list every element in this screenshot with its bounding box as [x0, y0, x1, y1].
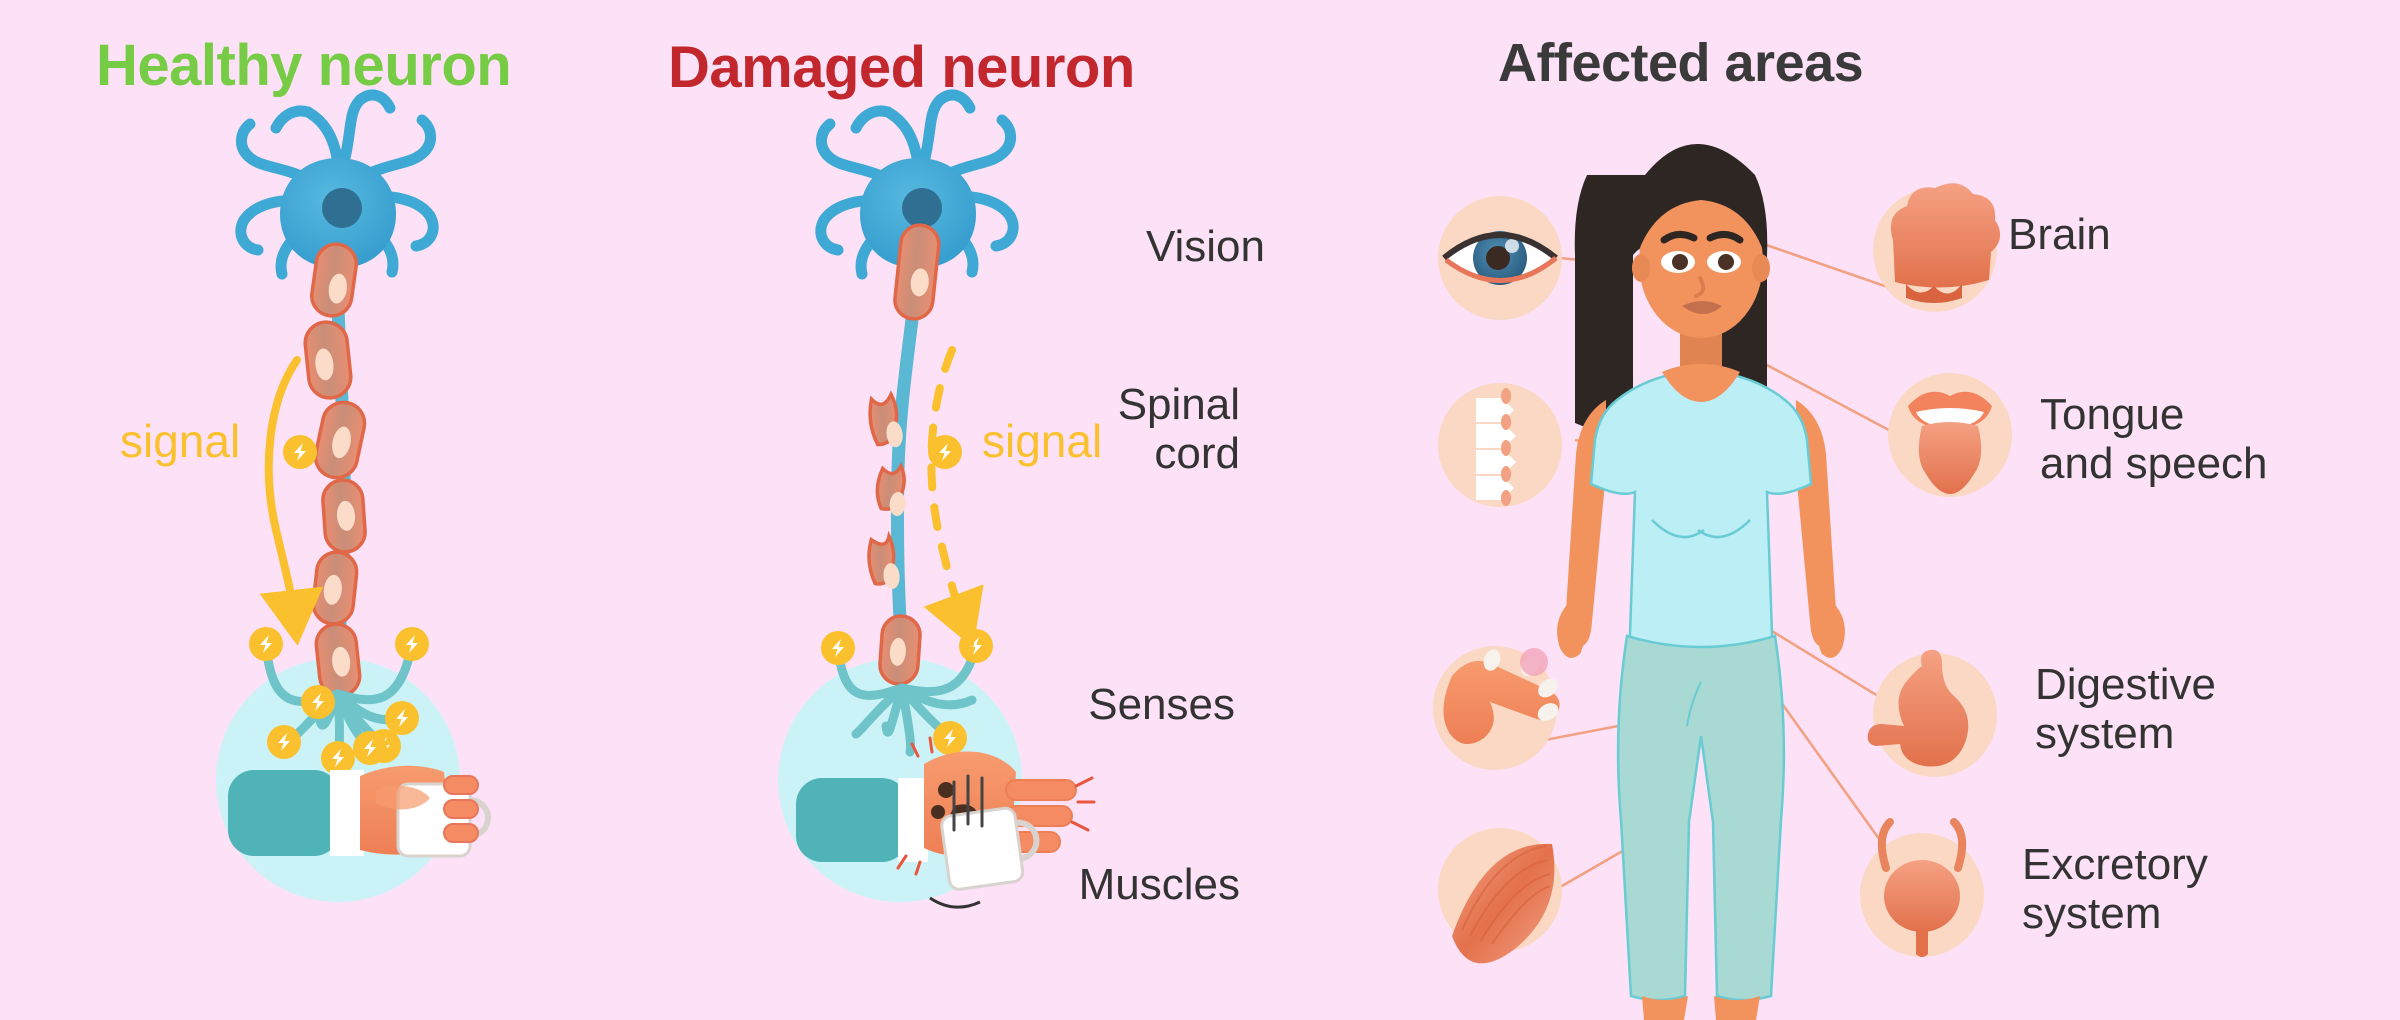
- signal-label-healthy: signal: [120, 414, 240, 468]
- healthy-terminal-bolts: [249, 627, 429, 775]
- damaged-myelin-sheath: [867, 223, 941, 685]
- damaged-cuff: [898, 778, 928, 862]
- area-label-senses: Senses: [1088, 680, 1235, 729]
- damaged-neuron-diagram: [778, 95, 1094, 907]
- healthy-mug-handle: [470, 800, 488, 836]
- healthy-sleeve: [228, 770, 340, 856]
- healthy-soma: [241, 95, 433, 274]
- tshirt: [1591, 370, 1811, 678]
- tremor-lines: [898, 738, 1094, 874]
- damaged-mug: [940, 804, 1041, 890]
- female-figure: [1557, 144, 1845, 1020]
- healthy-scene-circle: [216, 658, 460, 902]
- healthy-hand: [360, 766, 452, 855]
- healthy-myelin-sheath: [303, 242, 368, 698]
- healthy-axon: [338, 262, 345, 660]
- pants: [1618, 636, 1784, 1000]
- hand-touch-icon: [1433, 646, 1562, 770]
- damaged-soma: [821, 95, 1013, 274]
- arm-right: [1796, 400, 1836, 647]
- coffee-spill: [931, 782, 983, 839]
- motion-lines: [954, 776, 982, 830]
- affected-areas-diagram: [1433, 144, 2012, 1020]
- healthy-signal-bolt: [283, 435, 317, 469]
- face-eyes: [1661, 251, 1741, 273]
- stomach-icon: [1868, 650, 1997, 777]
- muscle-icon: [1438, 828, 1562, 963]
- hair-fringe: [1639, 168, 1763, 250]
- damaged-hand-scene: [796, 738, 1094, 907]
- area-label-spinal-cord: Spinal cord: [1118, 380, 1240, 479]
- healthy-neuron-diagram: [216, 95, 488, 902]
- face-lips: [1682, 301, 1722, 314]
- neckline-skin: [1662, 364, 1740, 402]
- area-label-vision: Vision: [1146, 222, 1265, 271]
- area-label-muscles: Muscles: [1079, 860, 1240, 909]
- panel-title-affected: Affected areas: [1498, 32, 1863, 94]
- area-label-tongue-and-speech: Tongue and speech: [2040, 390, 2268, 489]
- damaged-axon: [897, 262, 918, 660]
- damaged-terminal-bolts: [821, 629, 993, 755]
- connector-lines: [1545, 222, 1945, 890]
- healthy-signal-arrow: [269, 360, 297, 614]
- tongue-icon: [1888, 373, 2012, 497]
- eye-icon: [1438, 196, 1562, 320]
- arm-left: [1566, 400, 1606, 647]
- panel-title-healthy: Healthy neuron: [96, 32, 511, 99]
- damaged-sleeve: [796, 778, 908, 862]
- damaged-fingers: [1004, 780, 1076, 852]
- spine-icon: [1438, 383, 1562, 507]
- panel-title-damaged: Damaged neuron: [668, 34, 1135, 101]
- signal-label-damaged: signal: [982, 414, 1102, 468]
- area-label-excretory-system: Excretory system: [2022, 840, 2208, 939]
- hair-back: [1575, 144, 1768, 437]
- healthy-fingers: [444, 776, 478, 842]
- healthy-mug: [398, 784, 470, 856]
- damaged-scene-circle: [778, 658, 1022, 902]
- healthy-cuff: [330, 770, 364, 856]
- area-label-brain: Brain: [2008, 210, 2111, 259]
- bladder-icon: [1860, 822, 1984, 957]
- damaged-hand-palm: [924, 752, 1016, 856]
- head: [1639, 186, 1763, 338]
- healthy-axon-terminals: [266, 644, 412, 756]
- area-label-digestive-system: Digestive system: [2035, 660, 2216, 759]
- damaged-axon-terminals: [838, 646, 976, 752]
- brain-icon: [1873, 183, 2000, 312]
- damaged-signal-arrow: [931, 350, 962, 618]
- healthy-hand-scene: [228, 766, 488, 856]
- damaged-signal-bolt: [928, 435, 962, 469]
- infographic-canvas: Healthy neuron Damaged neuron Affected a…: [0, 0, 2400, 1020]
